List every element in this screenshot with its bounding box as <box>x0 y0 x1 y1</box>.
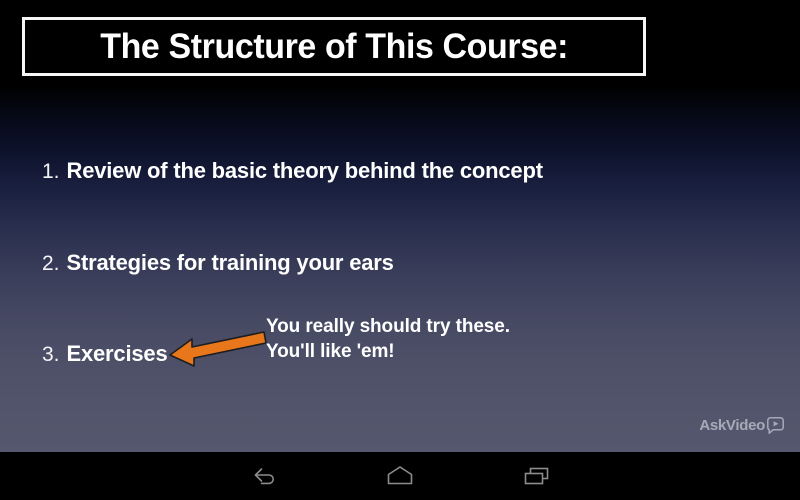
list-item: 2. Strategies for training your ears <box>42 250 394 276</box>
callout-line-2: You'll like 'em! <box>266 339 510 364</box>
recents-button[interactable] <box>492 452 582 500</box>
list-item-label: Review of the basic theory behind the co… <box>67 158 543 184</box>
callout-text: You really should try these. You'll like… <box>266 314 510 364</box>
home-button[interactable] <box>355 452 445 500</box>
list-item-label: Exercises <box>67 341 168 367</box>
list-item-number: 1. <box>42 160 60 184</box>
list-item: 1. Review of the basic theory behind the… <box>42 158 543 184</box>
screen: The Structure of This Course: 1. Review … <box>0 0 800 500</box>
page-title: The Structure of This Course: <box>100 27 568 67</box>
recents-icon <box>522 464 552 488</box>
list-item-label: Strategies for training your ears <box>67 250 394 276</box>
list-item-number: 3. <box>42 343 60 367</box>
android-navigation-bar <box>0 452 800 500</box>
list-item-number: 2. <box>42 252 60 276</box>
title-box: The Structure of This Course: <box>22 17 646 76</box>
home-icon <box>384 464 416 488</box>
slide-canvas: The Structure of This Course: 1. Review … <box>0 0 800 452</box>
back-arrow-icon <box>250 464 280 488</box>
watermark: AskVideo <box>699 417 784 434</box>
callout-line-1: You really should try these. <box>266 314 510 339</box>
back-button[interactable] <box>220 452 310 500</box>
list-item: 3. Exercises <box>42 341 167 367</box>
play-bubble-icon <box>767 417 784 434</box>
left-arrow-icon <box>166 328 268 368</box>
watermark-label: AskVideo <box>699 417 765 434</box>
